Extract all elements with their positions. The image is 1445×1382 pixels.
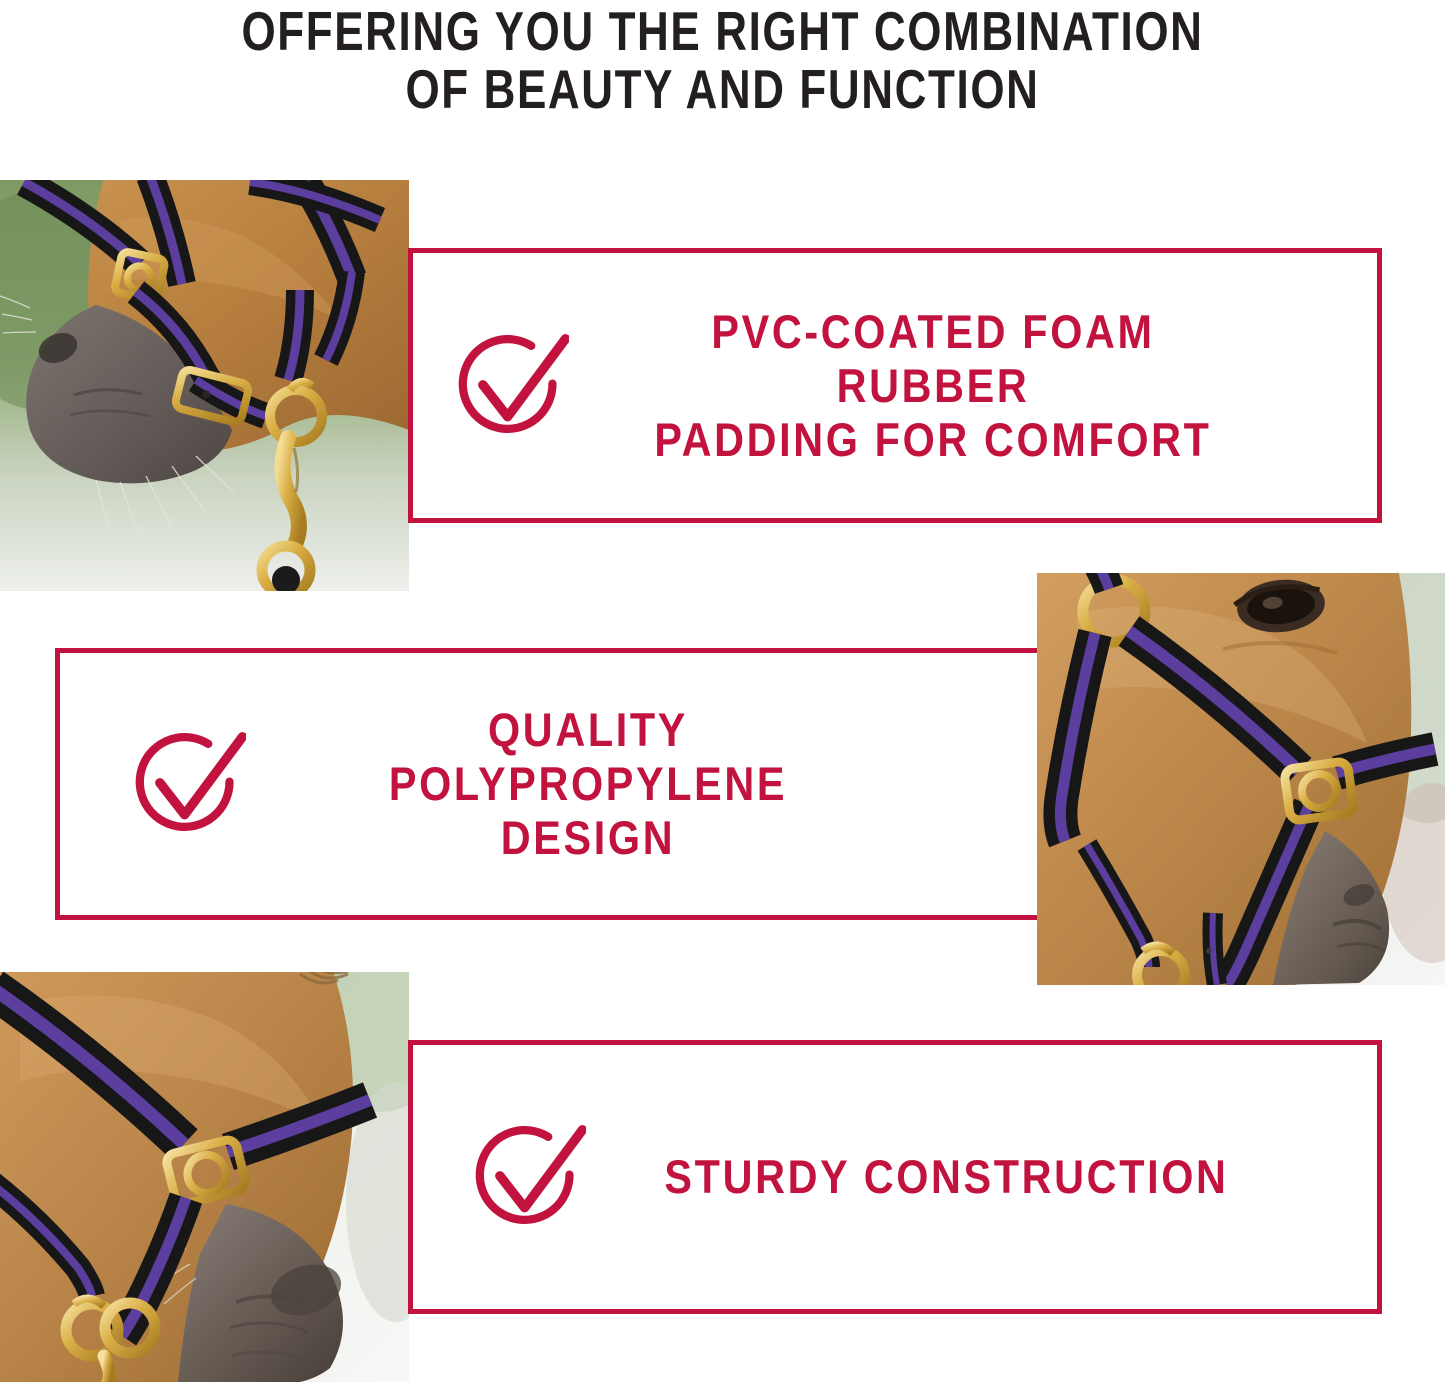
headline-line-2: OF BEAUTY AND FUNCTION	[145, 60, 1301, 118]
feature-label-line-1: QUALITY POLYPROPYLENE	[287, 703, 889, 811]
feature-label: QUALITY POLYPROPYLENE DESIGN	[287, 703, 889, 865]
headline-line-1: OFFERING YOU THE RIGHT COMBINATION	[145, 2, 1301, 60]
feature-label-line-2: DESIGN	[287, 811, 889, 865]
check-circle-icon	[128, 725, 246, 843]
page-title: OFFERING YOU THE RIGHT COMBINATION OF BE…	[145, 0, 1301, 118]
feature-box-pvc-padding: PVC-COATED FOAM RUBBER PADDING FOR COMFO…	[408, 248, 1382, 523]
product-infographic: OFFERING YOU THE RIGHT COMBINATION OF BE…	[0, 0, 1445, 1382]
feature-label: STURDY CONSTRUCTION	[629, 1150, 1263, 1204]
feature-label-line-1: PVC-COATED FOAM RUBBER	[613, 305, 1254, 413]
photo-halter-noseband	[0, 972, 409, 1382]
check-circle-icon	[451, 327, 569, 445]
photo-halter-muzzle-front	[0, 180, 409, 591]
check-circle-icon	[468, 1118, 586, 1236]
feature-label-line-1: STURDY CONSTRUCTION	[629, 1150, 1263, 1204]
photo-halter-head-profile	[1037, 573, 1445, 985]
feature-box-sturdy-construction: STURDY CONSTRUCTION	[408, 1040, 1382, 1314]
feature-label-line-2: PADDING FOR COMFORT	[613, 413, 1254, 467]
feature-label: PVC-COATED FOAM RUBBER PADDING FOR COMFO…	[613, 305, 1254, 467]
feature-box-polypropylene: QUALITY POLYPROPYLENE DESIGN	[55, 648, 1145, 920]
